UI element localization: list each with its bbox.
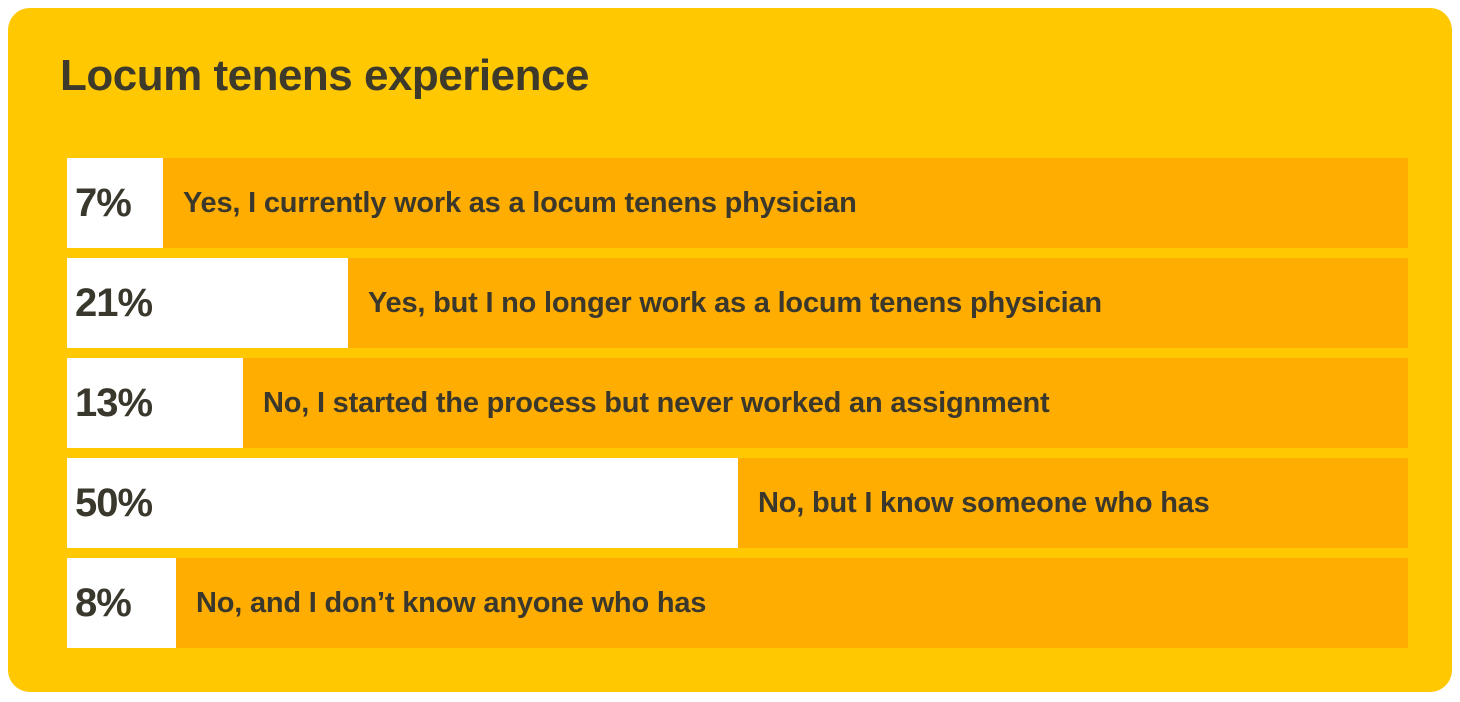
bar-row: 21% Yes, but I no longer work as a locum… bbox=[67, 258, 1408, 348]
bar-value: 8% bbox=[75, 583, 131, 623]
bar-value: 13% bbox=[75, 383, 152, 423]
bar-fill: 7% bbox=[67, 158, 163, 248]
bar-fill: 8% bbox=[67, 558, 176, 648]
bar-label: No, and I don’t know anyone who has bbox=[196, 558, 706, 648]
bar-row: 8% No, and I don’t know anyone who has bbox=[67, 558, 1408, 648]
page-title: Locum tenens experience bbox=[60, 52, 589, 100]
bar-label: No, but I know someone who has bbox=[758, 458, 1210, 548]
bar-label: Yes, I currently work as a locum tenens … bbox=[183, 158, 857, 248]
bar-chart: 7% Yes, I currently work as a locum tene… bbox=[67, 158, 1408, 648]
bar-value: 7% bbox=[75, 183, 131, 223]
bar-fill: 21% bbox=[67, 258, 348, 348]
bar-row: 13% No, I started the process but never … bbox=[67, 358, 1408, 448]
bar-label: Yes, but I no longer work as a locum ten… bbox=[368, 258, 1102, 348]
bar-row: 7% Yes, I currently work as a locum tene… bbox=[67, 158, 1408, 248]
bar-value: 21% bbox=[75, 283, 152, 323]
bar-value: 50% bbox=[75, 483, 152, 523]
bar-label: No, I started the process but never work… bbox=[263, 358, 1050, 448]
bar-fill: 50% bbox=[67, 458, 738, 548]
bar-fill: 13% bbox=[67, 358, 243, 448]
bar-row: 50% No, but I know someone who has bbox=[67, 458, 1408, 548]
chart-card: Locum tenens experience 7% Yes, I curren… bbox=[8, 8, 1452, 692]
